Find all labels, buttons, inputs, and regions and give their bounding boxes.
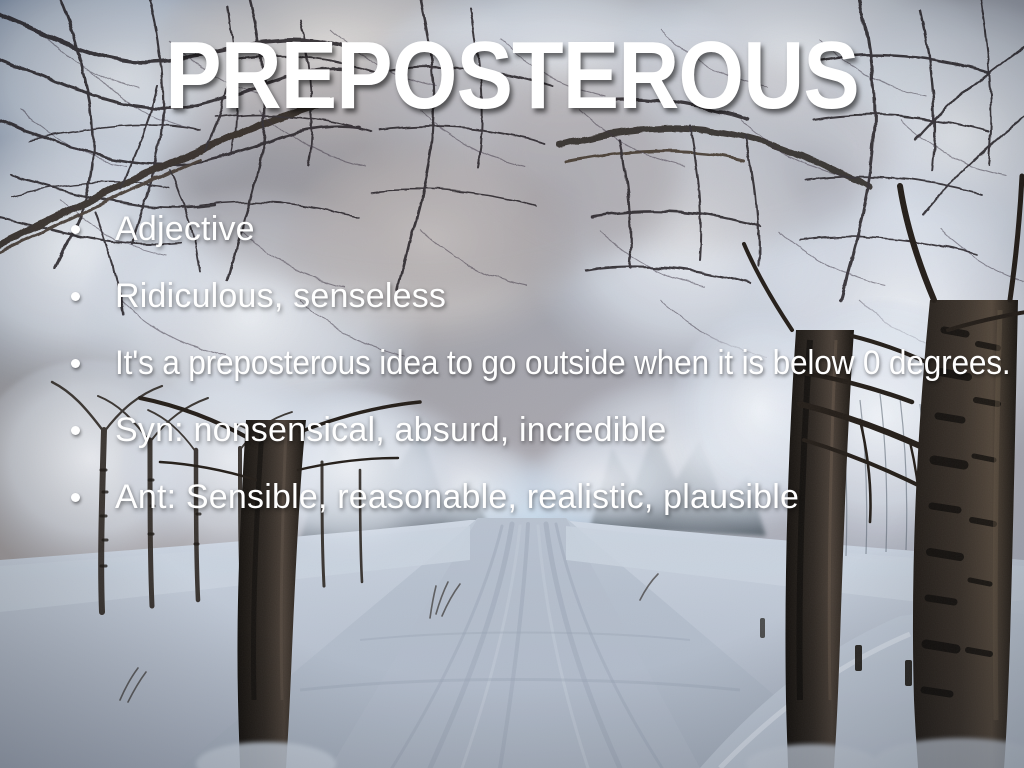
bullet-dot-icon: [71, 426, 80, 435]
bullet-dot-icon: [71, 493, 80, 502]
bullet-dot-icon: [71, 225, 80, 234]
bullet-text: Syn: nonsensical, absurd, incredible: [115, 412, 667, 449]
presentation-slide: PREPOSTEROUS Adjective Ridiculous, sense…: [0, 0, 1024, 768]
list-item: Ant: Sensible, reasonable, realistic, pl…: [62, 464, 1002, 531]
bullet-dot-icon: [71, 292, 80, 301]
bullet-text: Ridiculous, senseless: [115, 278, 446, 315]
list-item: Ridiculous, senseless: [62, 263, 1002, 330]
list-item: It's a preposterous idea to go outside w…: [62, 330, 1002, 397]
list-item: Syn: nonsensical, absurd, incredible: [62, 397, 1002, 464]
bullet-text: It's a preposterous idea to go outside w…: [115, 345, 1010, 382]
list-item: Adjective: [62, 196, 1002, 263]
bullet-dot-icon: [71, 359, 80, 368]
slide-title: PREPOSTEROUS: [61, 28, 962, 124]
bullet-list: Adjective Ridiculous, senseless It's a p…: [62, 196, 1002, 531]
bullet-text: Ant: Sensible, reasonable, realistic, pl…: [115, 479, 799, 516]
bullet-text: Adjective: [115, 211, 255, 248]
